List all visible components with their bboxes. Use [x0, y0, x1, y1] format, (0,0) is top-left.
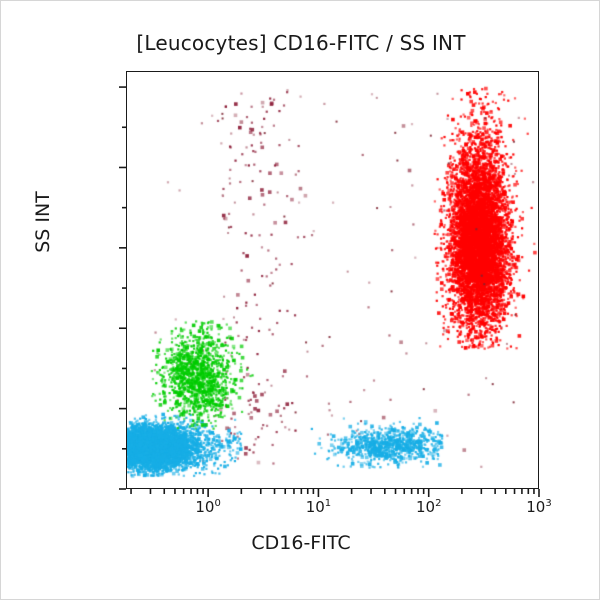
page-title: [Leucocytes] CD16-FITC / SS INT — [1, 31, 600, 55]
x-tick-label: 102 — [394, 498, 464, 516]
x-tick-label: 101 — [283, 498, 353, 516]
flow-cytometry-plot: [Leucocytes] CD16-FITC / SS INT 02004006… — [1, 1, 600, 601]
screenshot-root: [Leucocytes] CD16-FITC / SS INT 02004006… — [0, 0, 600, 600]
x-tick-label: 100 — [173, 498, 243, 516]
x-tick-label: 103 — [504, 498, 574, 516]
plot-area — [126, 71, 539, 489]
scatter-points-canvas — [127, 72, 539, 489]
x-axis-label: CD16-FITC — [1, 532, 600, 554]
y-axis-label: SS INT — [32, 162, 54, 282]
